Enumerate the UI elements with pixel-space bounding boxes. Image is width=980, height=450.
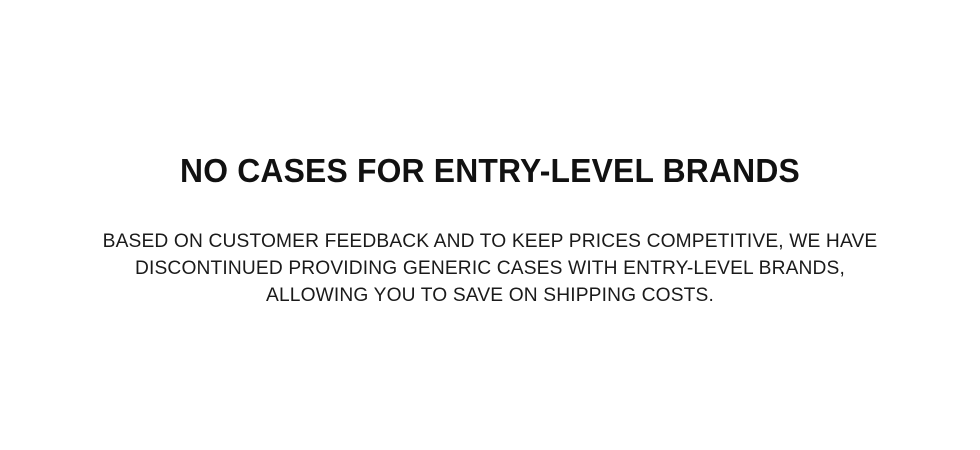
notice-section: No Cases for Entry-Level Brands Based on… — [0, 0, 980, 450]
notice-content-wrapper: No Cases for Entry-Level Brands Based on… — [40, 0, 940, 309]
notice-heading: No Cases for Entry-Level Brands — [56, 0, 925, 191]
notice-body-text: Based on customer feedback and to keep p… — [90, 191, 890, 309]
